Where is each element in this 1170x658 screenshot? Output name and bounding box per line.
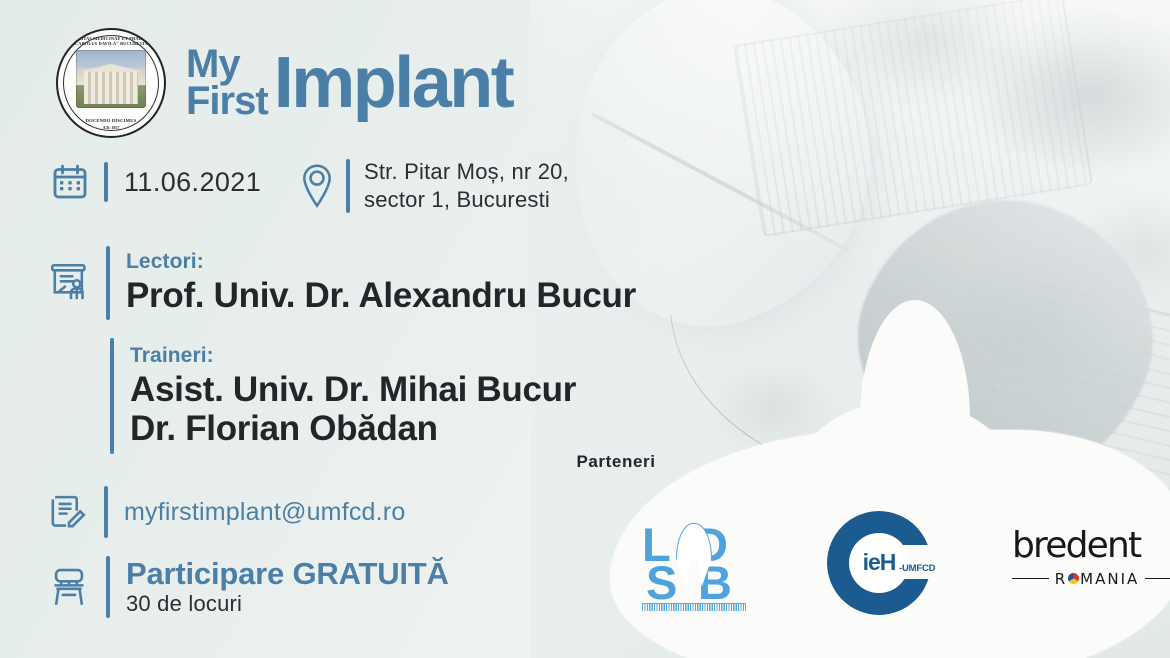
lectors-divider [106, 246, 110, 320]
location-divider [346, 159, 350, 213]
bredent-rule-right [1145, 578, 1170, 580]
location-row: Str. Pitar Moș, nr 20, sector 1, Bucures… [298, 158, 569, 214]
seal-year: A.D. 1857 [58, 125, 164, 130]
bredent-romania-word: R MANIA [1055, 570, 1140, 588]
participation-headline: Participare GRATUITĂ [126, 557, 449, 591]
lector-name: Prof. Univ. Dr. Alexandru Bucur [126, 276, 636, 315]
contact-email[interactable]: myfirstimplant@umfcd.ro [124, 498, 405, 527]
seal-arc-text: UNIVERSITAS MEDICINAE ET PHARMACIAE "CAR… [58, 36, 164, 47]
trainers-row: Traineri: Asist. Univ. Dr. Mihai Bucur D… [110, 338, 576, 454]
event-poster: UNIVERSITAS MEDICINAE ET PHARMACIAE "CAR… [0, 0, 1170, 658]
seats-count: 30 de locuri [126, 591, 449, 617]
trainer-name-2: Dr. Florian Obădan [130, 409, 576, 448]
bredent-logo[interactable]: bredent group R MANIA [1012, 528, 1170, 598]
seal-building-image [76, 50, 146, 108]
participation-row: Participare GRATUITĂ 30 de locuri [48, 556, 449, 618]
bredent-country-r: R [1055, 570, 1067, 588]
trainers-divider [110, 338, 114, 454]
umfcd-seal-logo: UNIVERSITAS MEDICINAE ET PHARMACIAE "CAR… [56, 28, 166, 138]
date-row: 11.06.2021 [50, 162, 261, 202]
seal-motto: DOCENDO DISCIMUS [58, 118, 164, 123]
location-line-1: Str. Pitar Moș, nr 20, [364, 158, 569, 186]
dental-probe-shape [591, 112, 849, 252]
bredent-flag-o-icon [1068, 573, 1079, 584]
ieh-mark: ieH [863, 549, 896, 576]
document-pen-icon [48, 491, 88, 533]
event-location: Str. Pitar Moș, nr 20, sector 1, Bucures… [364, 158, 569, 214]
date-divider [104, 162, 108, 202]
partners-title-wrap: Parteneri [0, 452, 1170, 472]
trainers-label: Traineri: [130, 344, 576, 368]
location-pin-icon [298, 162, 336, 210]
bredent-romania-line: R MANIA [1012, 570, 1170, 588]
wordmark-my: My [186, 46, 268, 83]
my-first-implant-wordmark: My First Implant [186, 46, 512, 120]
partners-title: Parteneri [576, 452, 655, 471]
bredent-wordmark: bredent [1012, 528, 1170, 564]
ieh-umfcd-suffix: -UMFCD [899, 563, 935, 574]
instrument-tray-shape [733, 0, 1093, 237]
lectors-label: Lectori: [126, 250, 636, 274]
wordmark-implant: Implant [274, 51, 513, 116]
lectors-text-block: Lectori: Prof. Univ. Dr. Alexandru Bucur [126, 250, 636, 315]
event-date: 11.06.2021 [124, 167, 261, 198]
lsb-logo[interactable]: L D S B [642, 517, 746, 609]
partner-logos: L D S B ieH -UMFCD bredent group R [630, 505, 1170, 620]
email-divider [104, 486, 108, 538]
calendar-icon [50, 162, 90, 202]
email-row: myfirstimplant@umfcd.ro [48, 486, 405, 538]
presentation-board-icon [48, 261, 92, 305]
ieh-umfcd-logo[interactable]: ieH -UMFCD [827, 511, 931, 615]
location-line-2: sector 1, Bucuresti [364, 186, 569, 214]
trainer-name-1: Asist. Univ. Dr. Mihai Bucur [130, 370, 576, 409]
participation-divider [106, 556, 110, 618]
participation-text-block: Participare GRATUITĂ 30 de locuri [126, 557, 449, 617]
poster-header: UNIVERSITAS MEDICINAE ET PHARMACIAE "CAR… [56, 28, 512, 138]
wordmark-first: First [186, 83, 268, 120]
bredent-rule-left [1012, 578, 1049, 580]
bredent-country-rest: MANIA [1080, 570, 1139, 588]
lectors-row: Lectori: Prof. Univ. Dr. Alexandru Bucur [48, 246, 636, 320]
wordmark-my-first: My First [186, 46, 268, 120]
lsb-tagline-bar [642, 603, 746, 611]
trainers-text-block: Traineri: Asist. Univ. Dr. Mihai Bucur D… [130, 344, 576, 448]
lsb-letter-s: S [646, 559, 677, 606]
chair-icon [48, 565, 90, 609]
